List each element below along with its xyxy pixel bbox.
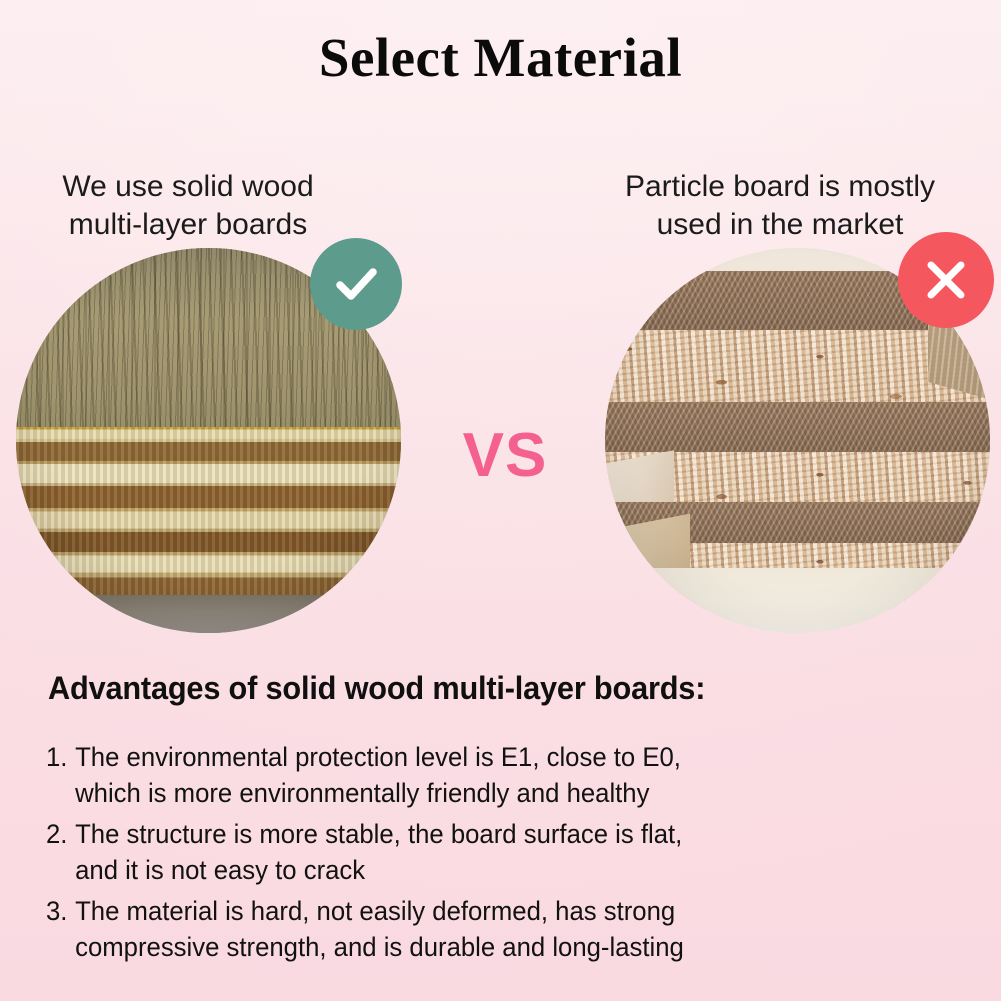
list-item-number: 3. [46, 894, 75, 965]
versus-label: VS [440, 420, 570, 491]
list-item-line2: which is more environmentally friendly a… [75, 778, 649, 808]
list-item-line1: The structure is more stable, the board … [75, 819, 682, 849]
cross-icon [919, 253, 973, 307]
list-item-text: The environmental protection level is E1… [75, 740, 725, 811]
list-item-text: The material is hard, not easily deforme… [75, 894, 725, 965]
list-item-line2: and it is not easy to crack [75, 855, 365, 885]
list-item-number: 2. [46, 817, 75, 888]
check-icon [328, 256, 384, 312]
page-title: Select Material [0, 26, 1001, 89]
list-item: 3. The material is hard, not easily defo… [46, 894, 725, 965]
list-item-text: The structure is more stable, the board … [75, 817, 725, 888]
list-item-line1: The material is hard, not easily deforme… [75, 896, 675, 926]
check-badge [310, 238, 402, 330]
material-comparison-page: Select Material We use solid wood multi-… [0, 0, 1001, 1001]
left-caption-line1: We use solid wood [8, 168, 368, 206]
right-caption-line2: used in the market [600, 206, 960, 244]
right-caption-line1: Particle board is mostly [600, 168, 960, 206]
list-item-line1: The environmental protection level is E1… [75, 742, 681, 772]
left-caption-line2: multi-layer boards [8, 206, 368, 244]
advantages-heading: Advantages of solid wood multi-layer boa… [48, 670, 705, 707]
advantages-list: 1. The environmental protection level is… [46, 740, 746, 971]
list-item: 1. The environmental protection level is… [46, 740, 725, 811]
list-item-line2: compressive strength, and is durable and… [75, 932, 684, 962]
list-item-number: 1. [46, 740, 75, 811]
list-item: 2. The structure is more stable, the boa… [46, 817, 725, 888]
cross-badge [898, 232, 994, 328]
right-caption: Particle board is mostly used in the mar… [600, 168, 960, 244]
left-caption: We use solid wood multi-layer boards [8, 168, 368, 244]
